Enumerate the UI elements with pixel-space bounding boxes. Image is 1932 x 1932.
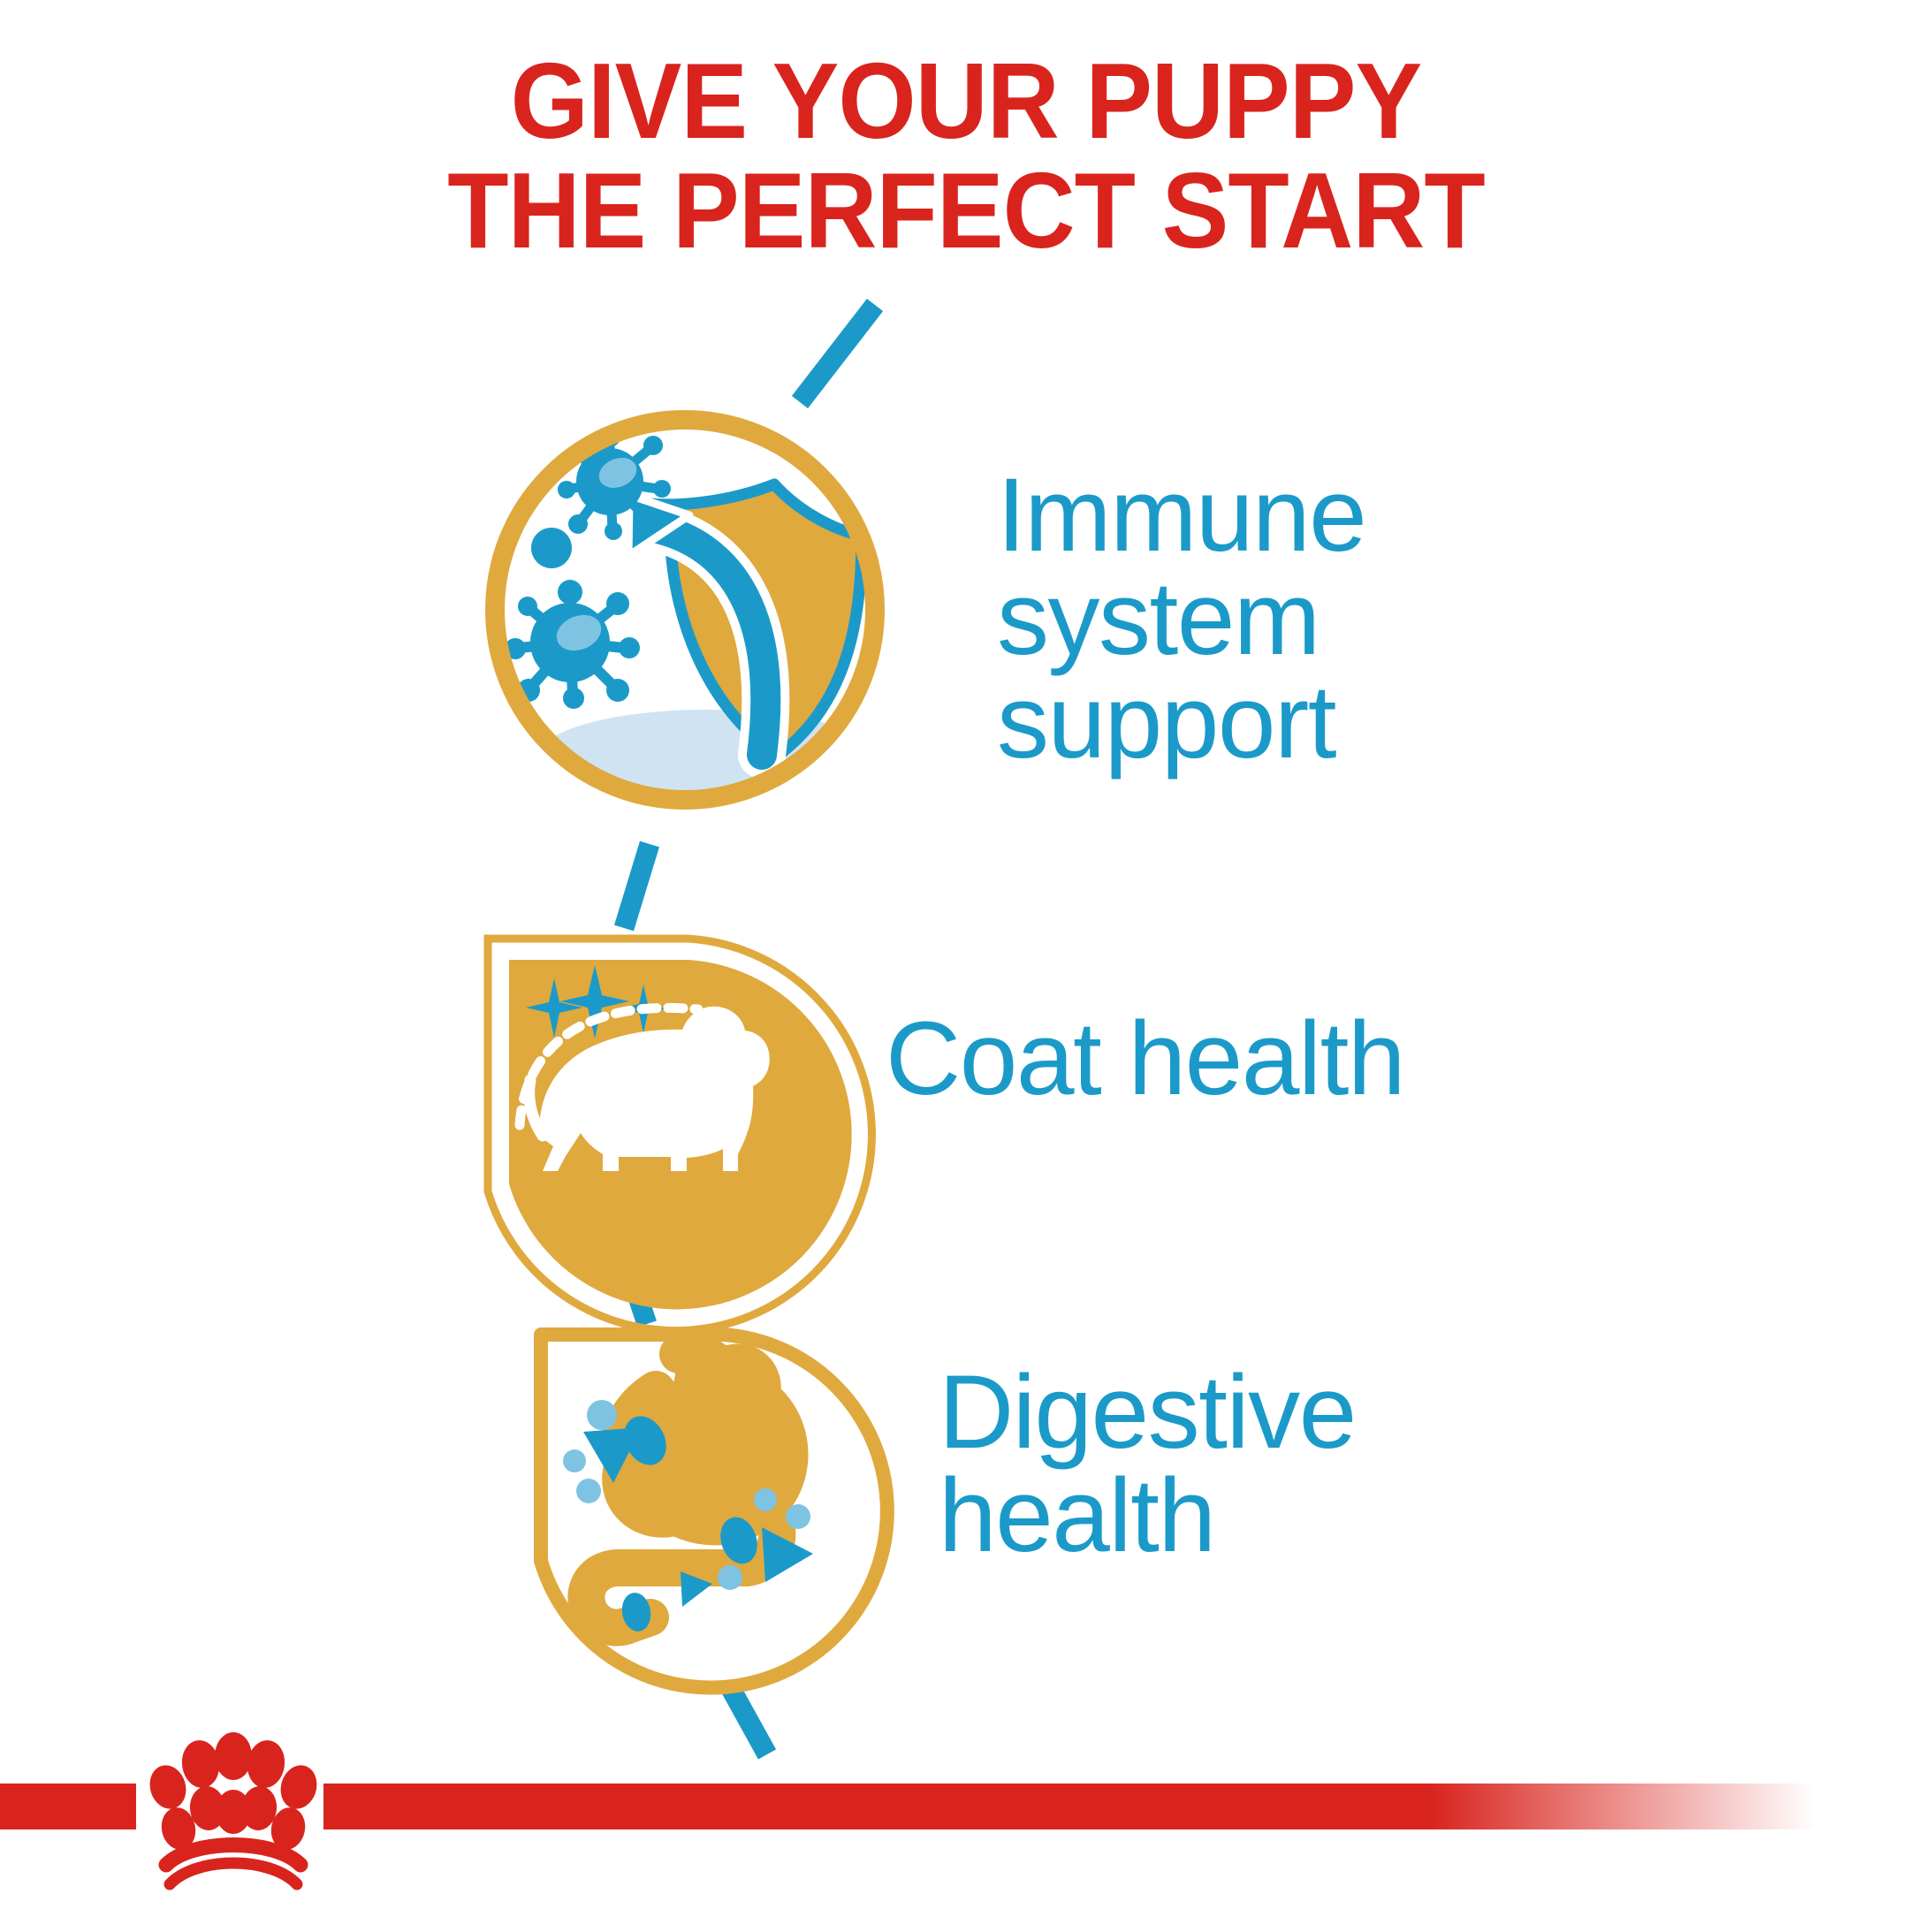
benefit-label-coat: Coat health <box>886 1008 1404 1111</box>
coat-health-dog-icon <box>488 939 871 1331</box>
poster-root: GIVE YOUR PUPPY THE PERFECT START <box>0 0 1932 1932</box>
immune-shield-virus-icon <box>495 420 875 802</box>
digestive-health-stomach-icon <box>541 1335 887 1687</box>
footer <box>0 1702 1932 1932</box>
benefit-label-immune: Immune system support <box>997 464 1365 773</box>
benefit-label-digestive: Digestive health <box>939 1361 1356 1568</box>
royal-canin-crown-logo <box>124 1709 336 1913</box>
virus-dot-small <box>531 528 572 568</box>
benefits-diagram <box>0 0 1932 1932</box>
virus-particle-lower <box>505 580 640 709</box>
